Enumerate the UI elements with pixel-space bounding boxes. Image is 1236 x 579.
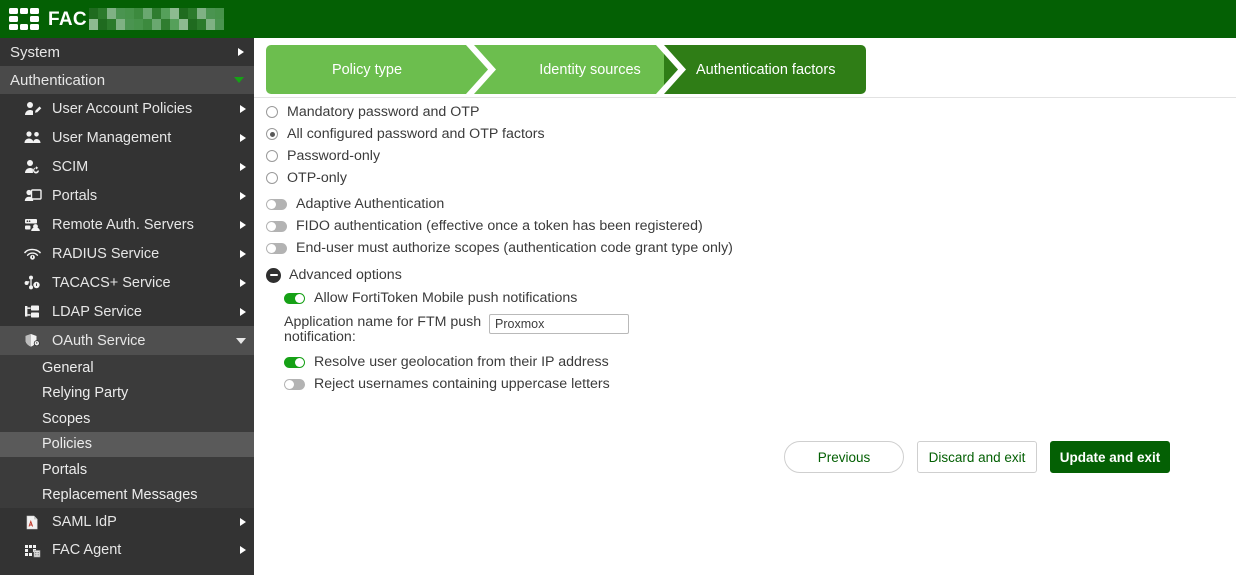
toggle-row-resolve-user-geolocation[interactable]: Resolve user geolocation from their IP a… — [284, 351, 1216, 373]
chevron-right-icon — [240, 279, 246, 287]
radio-option-all-configured-password-and-otp-factors[interactable]: All configured password and OTP factors — [266, 123, 1216, 145]
sidebar-item-portals[interactable]: Portals — [0, 181, 254, 210]
update-and-exit-button[interactable]: Update and exit — [1050, 441, 1170, 473]
app-root: FAC System Authentication User Account P… — [0, 0, 1236, 579]
wizard-steps: Policy type Identity sources Authenticat… — [266, 45, 866, 94]
redacted-hostname — [89, 8, 224, 30]
sidebar-item-label: User Account Policies — [52, 101, 234, 117]
feature-toggle-group: Adaptive Authentication FIDO authenticat… — [266, 193, 1216, 259]
radio-option-password-only[interactable]: Password-only — [266, 145, 1216, 167]
radio-option-otp-only[interactable]: OTP-only — [266, 167, 1216, 189]
toggle-icon[interactable] — [266, 199, 287, 210]
toggle-row-allow-ftm-push-notifications[interactable]: Allow FortiToken Mobile push notificatio… — [284, 287, 1216, 309]
users-icon — [22, 129, 44, 147]
ldap-tree-icon — [22, 303, 44, 321]
top-bar: FAC — [0, 0, 1236, 38]
factor-mode-radio-group: Mandatory password and OTP All configure… — [266, 101, 1216, 189]
toggle-label: Resolve user geolocation from their IP a… — [314, 354, 609, 370]
sidebar-item-remote-auth-servers[interactable]: Remote Auth. Servers — [0, 210, 254, 239]
chevron-down-icon — [234, 77, 244, 83]
chevron-right-icon — [240, 518, 246, 526]
sidebar-item-label: RADIUS Service — [52, 246, 234, 262]
radio-option-mandatory-password-and-otp[interactable]: Mandatory password and OTP — [266, 101, 1216, 123]
sidebar-item-label: SAML IdP — [52, 514, 234, 530]
chevron-right-icon — [240, 134, 246, 142]
sidebar[interactable]: System Authentication User Account Polic… — [0, 38, 254, 575]
main-content: Policy type Identity sources Authenticat… — [254, 38, 1236, 579]
toggle-label: End-user must authorize scopes (authenti… — [296, 240, 733, 256]
sidebar-subitem-label: Policies — [42, 436, 92, 452]
sidebar-subitem-scopes[interactable]: Scopes — [0, 406, 254, 432]
radio-label: Password-only — [287, 148, 380, 164]
toggle-row-end-user-authorize-scopes[interactable]: End-user must authorize scopes (authenti… — [266, 237, 1216, 259]
sidebar-item-ldap-service[interactable]: LDAP Service — [0, 297, 254, 326]
sidebar-item-authentication-label: Authentication — [10, 72, 228, 89]
sidebar-item-label: Remote Auth. Servers — [52, 217, 234, 233]
radio-label: Mandatory password and OTP — [287, 104, 479, 120]
previous-button[interactable]: Previous — [784, 441, 904, 473]
sidebar-subitem-relying-party[interactable]: Relying Party — [0, 381, 254, 407]
chevron-down-icon — [236, 338, 246, 344]
sidebar-subitem-replacement-messages[interactable]: Replacement Messages — [0, 483, 254, 509]
sidebar-item-fac-agent[interactable]: FAC Agent — [0, 536, 254, 564]
shield-key-icon — [22, 332, 44, 350]
oauth-children: General Relying Party Scopes Policies Po… — [0, 355, 254, 508]
radio-icon[interactable] — [266, 106, 278, 118]
toggle-icon[interactable] — [266, 221, 287, 232]
sidebar-subitem-general[interactable]: General — [0, 355, 254, 381]
sidebar-item-label: LDAP Service — [52, 304, 234, 320]
sidebar-subitem-label: Relying Party — [42, 385, 128, 401]
sidebar-item-scim[interactable]: SCIM — [0, 152, 254, 181]
ftm-app-name-label: Application name for FTM push notificati… — [284, 314, 489, 345]
fac-agent-icon — [22, 541, 44, 559]
sidebar-top-group: System Authentication User Account Polic… — [0, 38, 254, 564]
server-user-icon — [22, 216, 44, 234]
toggle-label: FIDO authentication (effective once a to… — [296, 218, 703, 234]
radius-wave-icon — [22, 245, 44, 263]
sidebar-item-label: TACACS+ Service — [52, 275, 234, 291]
toggle-label: Reject usernames containing uppercase le… — [314, 376, 610, 392]
saml-document-icon — [22, 513, 44, 531]
sidebar-item-label: FAC Agent — [52, 542, 234, 558]
sidebar-item-label: User Management — [52, 130, 234, 146]
wizard-step-authentication-factors[interactable]: Authentication factors — [664, 45, 866, 94]
advanced-options-label: Advanced options — [289, 267, 402, 283]
wizard-step-label: Authentication factors — [696, 62, 835, 78]
chevron-right-icon — [240, 192, 246, 200]
chevron-right-icon — [240, 163, 246, 171]
sidebar-item-label: Portals — [52, 188, 234, 204]
chevron-right-icon — [238, 48, 244, 56]
wizard-action-buttons: Previous Discard and exit Update and exi… — [266, 441, 1216, 473]
sidebar-item-system-label: System — [10, 44, 232, 61]
chevron-right-icon — [240, 546, 246, 554]
sidebar-subitem-policies[interactable]: Policies — [0, 432, 254, 458]
toggle-icon[interactable] — [284, 293, 305, 304]
advanced-options-header[interactable]: Advanced options — [266, 263, 1216, 287]
chevron-right-icon — [240, 308, 246, 316]
product-name: FAC — [48, 10, 87, 29]
chevron-right-icon — [240, 221, 246, 229]
chevron-right-icon — [240, 250, 246, 258]
toggle-label: Allow FortiToken Mobile push notificatio… — [314, 290, 577, 306]
sidebar-subitem-label: Replacement Messages — [42, 487, 198, 503]
sidebar-item-system[interactable]: System — [0, 38, 254, 66]
toggle-row-fido-authentication[interactable]: FIDO authentication (effective once a to… — [266, 215, 1216, 237]
radio-icon[interactable] — [266, 172, 278, 184]
toggle-row-adaptive-authentication[interactable]: Adaptive Authentication — [266, 193, 1216, 215]
sidebar-subitem-portals[interactable]: Portals — [0, 457, 254, 483]
grid-logo-icon — [9, 8, 39, 30]
wizard-step-label: Policy type — [332, 62, 402, 78]
toggle-label: Adaptive Authentication — [296, 196, 444, 212]
toggle-icon[interactable] — [284, 357, 305, 368]
ftm-app-name-input[interactable] — [489, 314, 629, 334]
sidebar-item-label: OAuth Service — [52, 333, 230, 349]
wizard-step-policy-type[interactable]: Policy type — [266, 45, 496, 94]
radio-icon[interactable] — [266, 150, 278, 162]
tacacs-node-icon — [22, 274, 44, 292]
sidebar-item-radius-service[interactable]: RADIUS Service — [0, 239, 254, 268]
user-window-icon — [22, 187, 44, 205]
radio-label: OTP-only — [287, 170, 347, 186]
sidebar-item-oauth-service[interactable]: OAuth Service — [0, 326, 254, 355]
advanced-options-body: Allow FortiToken Mobile push notificatio… — [284, 287, 1216, 395]
toggle-icon[interactable] — [284, 379, 305, 390]
sidebar-subitem-label: General — [42, 360, 94, 376]
toggle-icon[interactable] — [266, 243, 287, 254]
sidebar-item-saml-idp[interactable]: SAML IdP — [0, 508, 254, 536]
auth-factors-form: Mandatory password and OTP All configure… — [266, 101, 1216, 395]
sidebar-item-user-management[interactable]: User Management — [0, 123, 254, 152]
ftm-app-name-field-row: Application name for FTM push notificati… — [284, 314, 1216, 345]
discard-and-exit-button[interactable]: Discard and exit — [917, 441, 1037, 473]
radio-label: All configured password and OTP factors — [287, 126, 545, 142]
collapse-minus-icon[interactable] — [266, 268, 281, 283]
sidebar-item-label: SCIM — [52, 159, 234, 175]
sidebar-item-user-account-policies[interactable]: User Account Policies — [0, 94, 254, 123]
sidebar-subitem-label: Portals — [42, 462, 87, 478]
content-divider — [254, 97, 1236, 98]
sidebar-subitem-label: Scopes — [42, 411, 90, 427]
toggle-row-reject-uppercase-usernames[interactable]: Reject usernames containing uppercase le… — [284, 373, 1216, 395]
chevron-right-icon — [240, 105, 246, 113]
sidebar-item-tacacs-service[interactable]: TACACS+ Service — [0, 268, 254, 297]
user-sync-icon — [22, 158, 44, 176]
radio-icon[interactable] — [266, 128, 278, 140]
wizard-step-label: Identity sources — [539, 62, 641, 78]
sidebar-item-authentication[interactable]: Authentication — [0, 66, 254, 94]
user-edit-icon — [22, 100, 44, 118]
